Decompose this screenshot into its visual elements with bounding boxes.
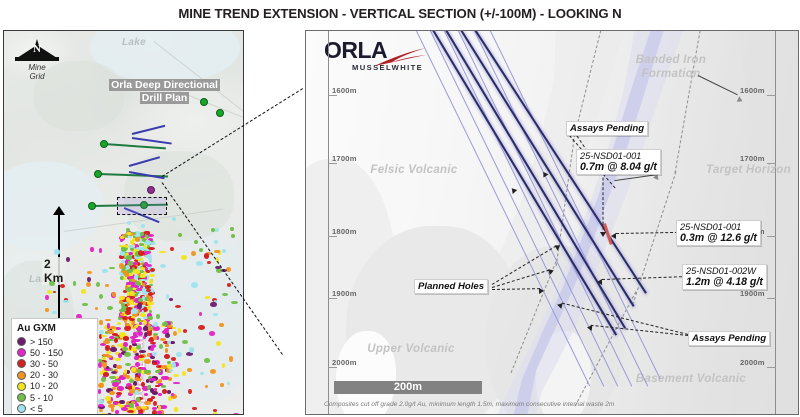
au-gxm-point: [101, 413, 107, 415]
au-gxm-point: [210, 369, 216, 374]
au-gxm-point: [60, 284, 65, 288]
north-arrow-icon: N Mine Grid: [14, 39, 60, 81]
au-gxm-point: [139, 414, 146, 415]
drill-collar: [94, 170, 102, 178]
au-gxm-point: [153, 326, 160, 331]
au-gxm-point: [115, 410, 118, 414]
au-gxm-point: [159, 344, 163, 349]
au-gxm-legend-swatch: [17, 348, 26, 357]
au-gxm-point: [172, 327, 176, 330]
au-gxm-point: [215, 228, 219, 232]
au-gxm-point: [213, 412, 217, 415]
depth-label: 1900m: [740, 289, 765, 298]
au-gxm-point: [134, 275, 137, 280]
au-gxm-point: [227, 382, 230, 386]
au-gxm-point: [106, 351, 111, 354]
au-gxm-point: [99, 320, 103, 324]
au-gxm-point: [214, 240, 218, 244]
au-gxm-point: [133, 269, 140, 273]
au-gxm-point: [164, 321, 168, 326]
au-gxm-point: [153, 414, 160, 415]
au-gxm-point: [147, 353, 150, 356]
intercept-2-result: 0.3m @ 12.6 g/t: [680, 232, 757, 244]
au-gxm-legend-swatch: [17, 404, 26, 413]
au-gxm-point: [73, 281, 76, 286]
drill-collar: [100, 140, 108, 148]
au-gxm-point: [112, 382, 119, 387]
au-gxm-point: [99, 330, 103, 334]
au-gxm-point: [130, 302, 134, 305]
unit-label-felsic-volcanic: Felsic Volcanic: [354, 164, 474, 176]
au-gxm-point: [111, 407, 115, 411]
au-gxm-point: [129, 291, 134, 296]
figure-title: MINE TREND EXTENSION - VERTICAL SECTION …: [0, 6, 800, 21]
au-gxm-point: [128, 276, 134, 279]
assays-pending-lower-arrow-1: [587, 324, 593, 330]
au-gxm-point: [129, 318, 135, 321]
au-gxm-point: [140, 274, 146, 277]
au-gxm-point: [165, 333, 170, 337]
au-gxm-legend-row: 30 - 50: [17, 358, 93, 369]
au-gxm-point: [156, 381, 159, 384]
au-gxm-point: [126, 232, 132, 235]
au-gxm-legend-row: 50 - 150: [17, 347, 93, 358]
au-gxm-point: [231, 301, 238, 304]
au-gxm-legend-label: < 5: [30, 404, 43, 414]
au-gxm-point: [167, 341, 170, 344]
au-gxm-point: [173, 382, 179, 385]
au-gxm-point: [107, 330, 114, 334]
section-footnote: Composites cut off grade 2.0g/t Au, mini…: [324, 401, 614, 408]
au-gxm-point: [107, 413, 112, 415]
au-gxm-point: [129, 261, 133, 264]
au-gxm-point: [157, 411, 161, 414]
au-gxm-legend-row: 20 - 30: [17, 370, 93, 381]
intercept-3-arrow: [597, 279, 602, 285]
au-gxm-legend-label: 10 - 20: [30, 381, 58, 391]
au-gxm-point: [209, 331, 215, 335]
au-gxm-point: [161, 376, 166, 380]
au-gxm-point: [96, 282, 100, 287]
au-gxm-point: [110, 326, 116, 329]
au-gxm-point: [176, 352, 183, 357]
depth-label: 1700m: [740, 154, 765, 163]
au-gxm-point: [136, 406, 140, 409]
unit-label-upper-volcanic: Upper Volcanic: [346, 343, 476, 355]
au-gxm-point: [66, 257, 70, 262]
au-gxm-point: [63, 300, 68, 303]
intercept-1-leader: [603, 178, 604, 230]
au-gxm-legend-swatch: [17, 337, 26, 346]
au-gxm-point: [139, 350, 146, 353]
au-gxm-legend-label: 50 - 150: [30, 348, 63, 358]
au-gxm-point: [117, 322, 121, 325]
callout-intercept-3: 25-NSD01-002W 1.2m @ 4.18 g/t: [682, 264, 767, 290]
au-gxm-point: [54, 249, 61, 254]
au-gxm-point: [187, 368, 191, 372]
au-gxm-point: [156, 314, 160, 319]
callout-intercept-1: 25-NSD01-001 0.7m @ 8.04 g/t: [576, 149, 661, 175]
depth-label: 1600m: [332, 86, 357, 95]
au-gxm-point: [149, 274, 155, 277]
au-gxm-point: [158, 405, 161, 410]
drill-collar: [200, 98, 208, 106]
au-gxm-point: [124, 326, 130, 331]
callout-assays-pending-lower: Assays Pending: [688, 331, 770, 346]
depth-label: 1700m: [332, 154, 357, 163]
au-gxm-point: [151, 396, 156, 399]
au-gxm-point: [137, 303, 142, 309]
au-gxm-point: [110, 347, 117, 351]
au-gxm-point: [155, 370, 160, 373]
au-gxm-point: [105, 396, 110, 401]
au-gxm-point: [98, 404, 103, 407]
depth-axis-left: [328, 31, 329, 414]
au-gxm-point: [143, 326, 148, 330]
au-gxm-point: [107, 355, 112, 358]
au-gxm-point: [174, 407, 177, 412]
au-gxm-point: [182, 371, 186, 376]
depth-label: 2000m: [740, 358, 765, 367]
au-gxm-point: [135, 362, 140, 367]
depth-axis-right: [775, 31, 776, 414]
au-gxm-point: [178, 328, 182, 333]
unit-label-target-horizon: Target Horizon: [701, 164, 796, 176]
au-gxm-point: [123, 336, 130, 340]
au-gxm-point: [165, 344, 168, 348]
au-gxm-legend-swatch: [17, 359, 26, 368]
au-gxm-point: [152, 352, 157, 356]
au-gxm-legend: Au GXM > 15050 - 15030 - 5020 - 3010 - 2…: [11, 318, 98, 415]
au-gxm-point: [148, 316, 152, 320]
au-gxm-legend-label: 30 - 50: [30, 359, 58, 369]
lake-label-top: Lake: [122, 37, 146, 48]
au-gxm-point: [139, 279, 145, 282]
planned-holes-arrow-3: [539, 288, 544, 294]
au-gxm-point: [129, 379, 134, 383]
au-gxm-point: [231, 234, 235, 238]
au-gxm-point: [98, 399, 104, 404]
au-gxm-legend-label: > 150: [30, 337, 53, 347]
au-gxm-point: [129, 389, 135, 394]
au-gxm-point: [131, 414, 135, 415]
intercept-3-hole-id: 25-NSD01-002W: [686, 266, 763, 276]
au-gxm-point: [214, 250, 220, 254]
au-gxm-point: [153, 322, 159, 327]
au-gxm-point: [150, 356, 155, 359]
depth-tick: [328, 367, 337, 368]
au-gxm-point: [144, 251, 150, 254]
orla-logo-swoosh-icon: [372, 48, 428, 68]
au-gxm-point: [196, 261, 203, 266]
target-horizon-leader-arrow: [653, 174, 659, 181]
au-gxm-point: [173, 374, 179, 377]
au-gxm-legend-label: 20 - 30: [30, 370, 58, 380]
au-gxm-point: [126, 255, 133, 259]
au-gxm-point: [105, 284, 109, 287]
au-gxm-point: [213, 409, 217, 412]
drill-collar-purple: [147, 186, 155, 194]
drill-plan-map-panel[interactable]: N Mine Grid Lake Lake Orla Deep Directio…: [3, 30, 244, 415]
intercept-1-hole-id: 25-NSD01-001: [580, 151, 657, 161]
au-gxm-point: [229, 356, 234, 361]
depth-tick: [767, 95, 776, 96]
au-gxm-point: [161, 405, 168, 408]
au-gxm-point: [192, 407, 196, 410]
au-gxm-point: [211, 228, 215, 232]
drill-collar: [216, 109, 224, 117]
au-gxm-legend-row: < 5: [17, 403, 93, 414]
au-gxm-point: [123, 342, 127, 347]
au-gxm-point: [144, 401, 151, 405]
au-gxm-point: [140, 414, 144, 415]
depth-tick: [328, 236, 337, 237]
au-gxm-point: [119, 263, 124, 268]
au-gxm-point: [98, 389, 101, 393]
au-gxm-point: [49, 281, 55, 285]
au-gxm-point: [102, 269, 107, 273]
drill-plan-title: Orla Deep Directional Drill Plan: [102, 79, 227, 105]
au-gxm-point: [134, 325, 138, 328]
au-gxm-point: [125, 363, 131, 366]
au-gxm-point: [191, 282, 198, 287]
au-gxm-legend-label: 5 - 10: [30, 393, 53, 403]
au-gxm-point: [138, 409, 143, 412]
au-gxm-legend-row: > 150: [17, 336, 93, 347]
au-gxm-point: [173, 331, 177, 336]
au-gxm-point: [181, 255, 187, 260]
au-gxm-point: [119, 296, 124, 299]
au-gxm-point: [45, 308, 48, 312]
au-gxm-point: [175, 305, 181, 308]
au-gxm-point: [45, 295, 48, 300]
intercept-2-arrow: [611, 233, 616, 239]
au-gxm-point: [188, 389, 192, 394]
au-gxm-point: [205, 385, 208, 388]
depth-tick: [328, 163, 337, 164]
au-gxm-point: [107, 323, 110, 328]
depth-tick: [328, 298, 337, 299]
callout-assays-pending-upper: Assays Pending: [566, 121, 648, 136]
au-gxm-point: [125, 260, 129, 263]
au-gxm-point: [140, 267, 145, 270]
depth-tick: [328, 95, 337, 96]
depth-label: 1600m: [740, 86, 765, 95]
au-gxm-point: [205, 296, 211, 299]
au-gxm-point: [99, 294, 103, 299]
au-gxm-point: [127, 410, 134, 414]
au-gxm-point: [140, 232, 144, 236]
au-gxm-point: [147, 332, 152, 336]
au-gxm-point: [102, 362, 107, 367]
au-gxm-point: [171, 393, 174, 396]
section-scale-bar: 200m: [334, 381, 482, 394]
au-gxm-point: [207, 261, 211, 264]
au-gxm-point: [142, 301, 146, 305]
intercept-3-result: 1.2m @ 4.18 g/t: [686, 276, 763, 288]
au-gxm-point: [136, 288, 141, 291]
au-gxm-point: [204, 253, 209, 258]
au-gxm-point: [112, 292, 117, 297]
depth-label: 1900m: [332, 289, 357, 298]
depth-label: 1800m: [332, 227, 357, 236]
depth-tick: [767, 367, 776, 368]
au-gxm-point: [165, 348, 169, 353]
vertical-section-panel[interactable]: ORLA MUSSELWHITE 1600m1700m1800m1900m200…: [305, 30, 799, 415]
au-gxm-point: [199, 248, 203, 252]
drill-plan-title-line1: Orla Deep Directional: [109, 79, 220, 91]
au-gxm-point: [204, 358, 210, 362]
au-gxm-legend-swatch: [17, 371, 26, 380]
depth-label: 2000m: [332, 358, 357, 367]
intercept-1-result: 0.7m @ 8.04 g/t: [580, 161, 657, 173]
au-gxm-legend-title: Au GXM: [17, 323, 93, 334]
au-gxm-point: [233, 413, 238, 415]
drill-collar: [88, 202, 96, 210]
callout-planned-holes: Planned Holes: [414, 279, 488, 294]
au-gxm-legend-swatch: [17, 393, 26, 402]
au-gxm-point: [148, 247, 155, 250]
au-gxm-legend-row: 10 - 20: [17, 381, 93, 392]
au-gxm-point: [135, 237, 140, 242]
intercept-2-hole-id: 25-NSD01-001: [680, 222, 757, 232]
au-gxm-point: [95, 307, 98, 310]
au-gxm-point: [162, 389, 167, 394]
depth-tick: [767, 298, 776, 299]
au-gxm-point: [220, 383, 223, 387]
au-gxm-point: [115, 358, 121, 361]
au-gxm-point: [122, 316, 128, 320]
au-gxm-point: [152, 391, 159, 395]
au-gxm-point: [90, 247, 95, 252]
au-gxm-point: [164, 328, 169, 333]
au-gxm-point: [123, 277, 126, 280]
au-gxm-point: [119, 400, 124, 404]
intercept-1-arrow: [600, 232, 606, 237]
north-arrow-sublabel-2: Grid: [14, 72, 60, 81]
au-gxm-point: [170, 247, 174, 251]
au-gxm-point: [141, 247, 145, 251]
depth-tick: [767, 236, 776, 237]
au-gxm-legend-row: 5 - 10: [17, 392, 93, 403]
au-gxm-point: [144, 359, 151, 364]
au-gxm-point: [81, 289, 86, 293]
au-gxm-point: [99, 409, 103, 412]
au-gxm-point: [182, 340, 188, 344]
unit-label-banded-iron-formation: Banded Iron Formation: [616, 53, 726, 81]
north-arrow-letter: N: [14, 43, 60, 55]
au-gxm-point: [152, 407, 157, 410]
au-gxm-point: [108, 404, 115, 408]
au-gxm-point: [131, 308, 138, 313]
au-gxm-point: [141, 224, 145, 228]
north-arrow-sublabel-1: Mine: [14, 63, 60, 72]
au-gxm-point: [109, 267, 115, 270]
section-focus-box[interactable]: [117, 197, 167, 215]
au-gxm-point: [171, 362, 176, 368]
drill-plan-title-line2: Drill Plan: [140, 92, 190, 104]
orla-musselwhite-logo: ORLA MUSSELWHITE: [324, 39, 436, 75]
callout-intercept-2: 25-NSD01-001 0.3m @ 12.6 g/t: [676, 220, 761, 246]
au-gxm-point: [138, 355, 144, 358]
au-gxm-legend-swatch: [17, 382, 26, 391]
